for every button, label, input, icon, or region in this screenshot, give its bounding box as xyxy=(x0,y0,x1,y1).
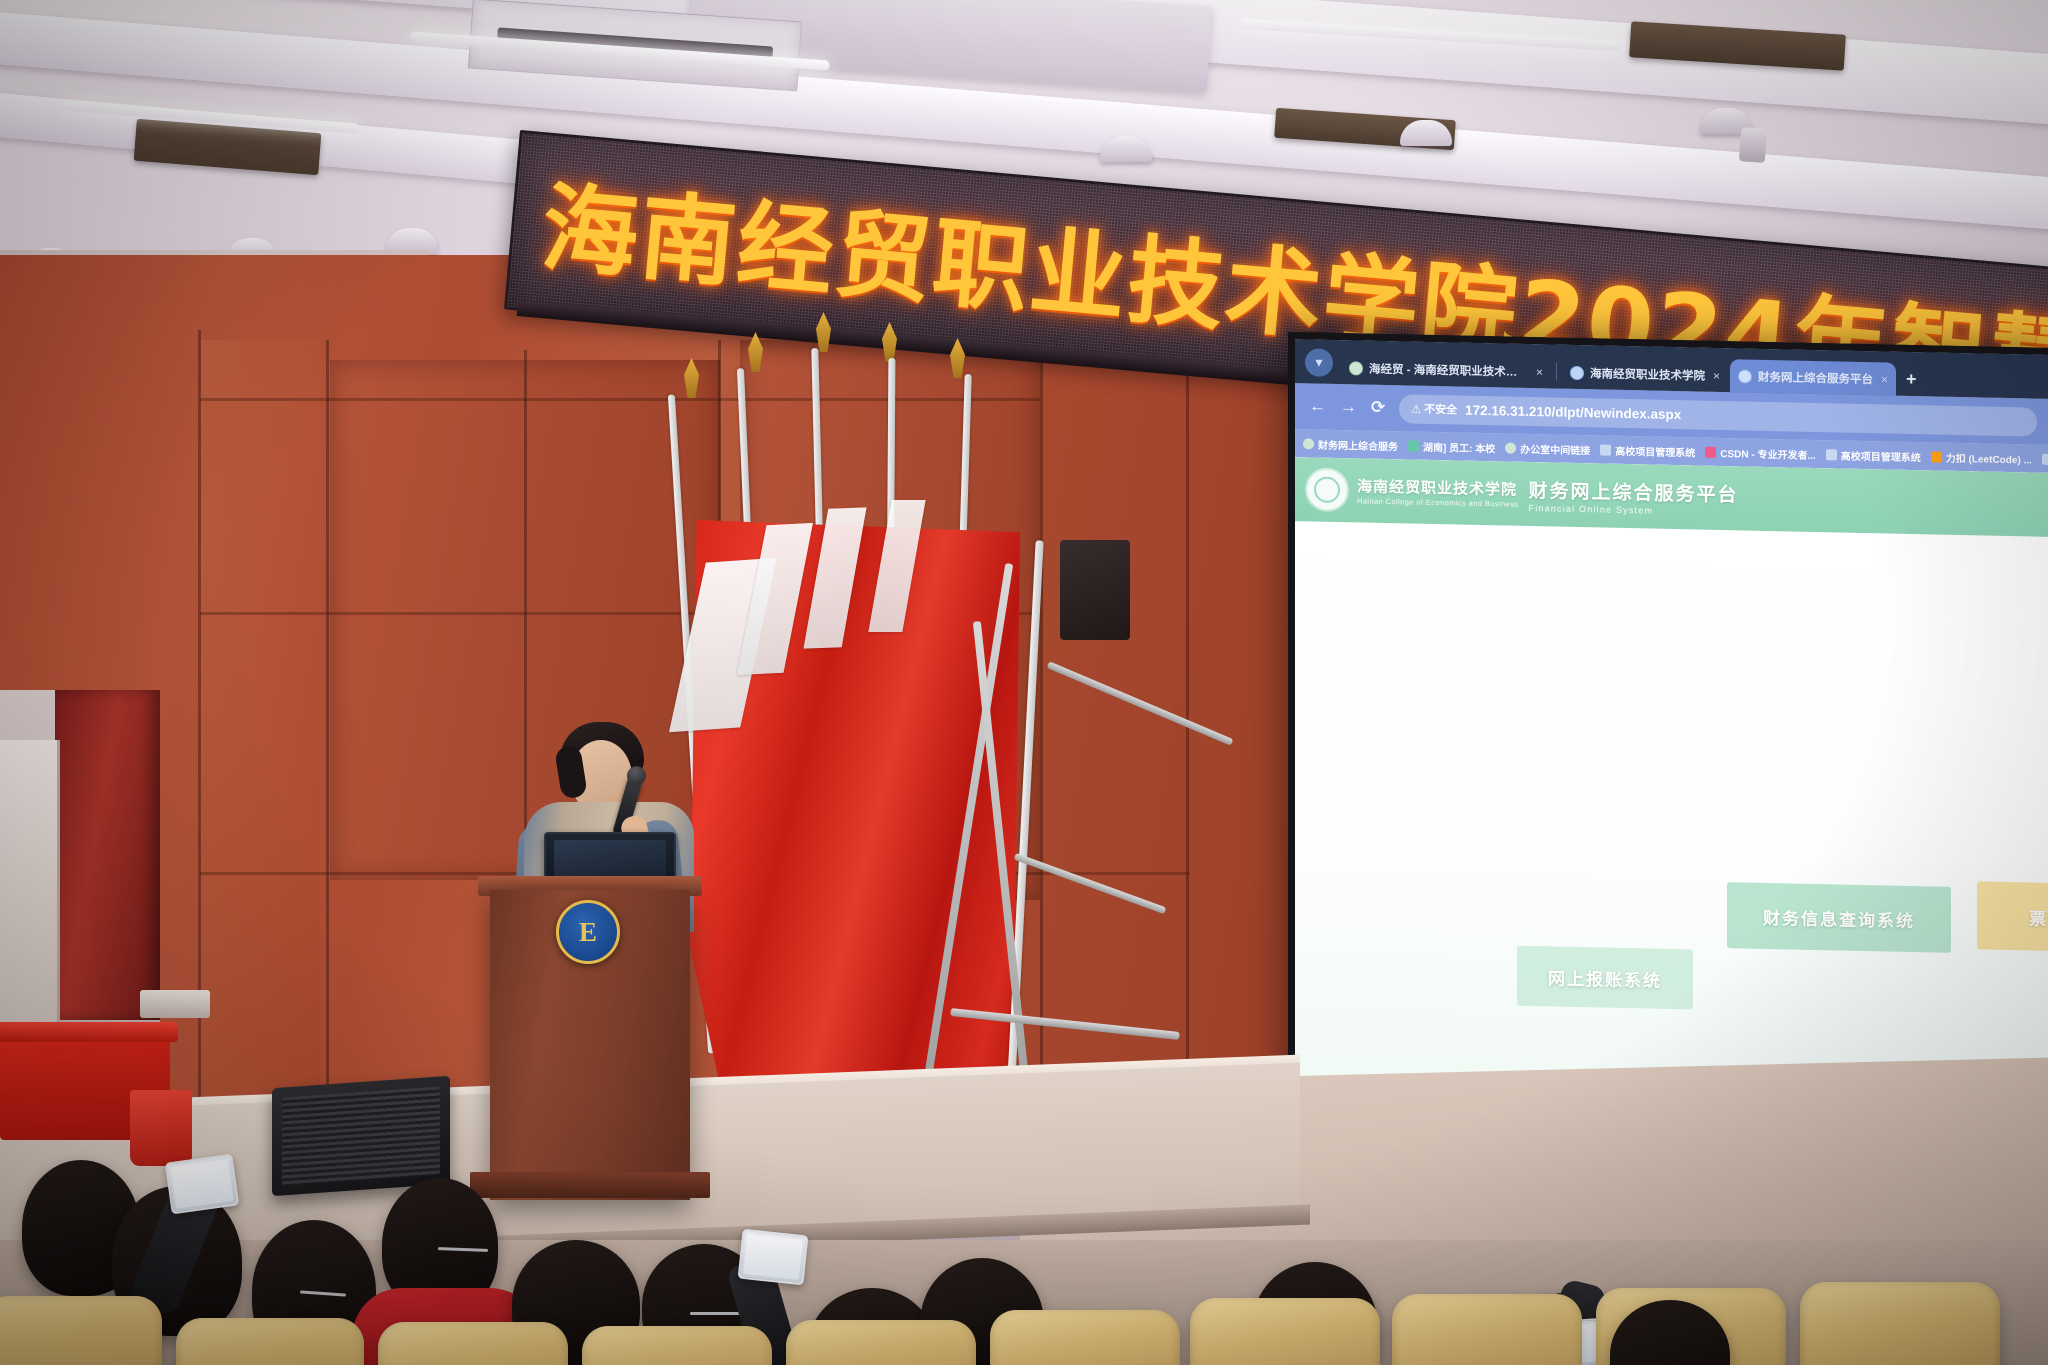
audience-seat xyxy=(1800,1282,2000,1365)
wall-seam xyxy=(326,340,329,1170)
address-bar[interactable]: ⚠ 不安全 172.16.31.210/dlpt/Newindex.aspx xyxy=(1399,394,2037,436)
bookmark-label: 财务网上综合服务 xyxy=(1318,436,1398,453)
service-card-invoice-check[interactable]: 票据查验 xyxy=(1977,881,2048,953)
door-frame xyxy=(0,740,60,1070)
bookmark-favicon-icon xyxy=(1303,438,1314,449)
bookmark-favicon-icon xyxy=(1505,442,1516,453)
bookmark-item[interactable]: 高校项目管理系统 xyxy=(1600,442,1695,459)
smartphone-icon xyxy=(738,1229,809,1286)
bookmark-item[interactable]: CSDN - 专业开发者... xyxy=(1705,444,1816,461)
not-secure-badge[interactable]: ⚠ 不安全 xyxy=(1411,401,1457,418)
conference-hall-photo: 海南经贸职业技术学院2024年智慧财务系 ▼ 海经贸 - 海南经贸职业技术学院 … xyxy=(0,0,2048,1365)
bookmark-label: 力扣 (LeetCode) ... xyxy=(1946,449,2032,466)
tab-favicon-icon xyxy=(1349,361,1363,375)
wall-shelf xyxy=(140,990,210,1018)
tab-close-icon[interactable]: × xyxy=(1713,368,1720,382)
stage-floor-speaker xyxy=(272,1076,450,1196)
bookmark-item[interactable]: 高校项目管理系统 xyxy=(1826,447,1921,464)
warning-icon: ⚠ xyxy=(1411,402,1421,415)
tab-favicon-icon xyxy=(1738,369,1752,383)
browser-tab-3-active[interactable]: 财务网上综合服务平台 × xyxy=(1730,359,1896,395)
audience-seat xyxy=(786,1320,976,1365)
tab-favicon-icon xyxy=(1570,365,1584,379)
url-text: 172.16.31.210/dlpt/Newindex.aspx xyxy=(1465,402,1681,422)
bookmark-favicon-icon xyxy=(1408,440,1419,451)
bookmark-item[interactable]: 湖南] 员工: 本校 xyxy=(1408,438,1495,455)
tab-title: 海南经贸职业技术学院 xyxy=(1590,365,1705,383)
system-name-block: 财务网上综合服务平台 Financial Online System xyxy=(1529,475,1739,516)
bookmark-item[interactable]: 又口一... xyxy=(2042,451,2048,467)
audience-seat xyxy=(176,1318,364,1365)
browser-tab-1[interactable]: 海经贸 - 海南经贸职业技术学院 × xyxy=(1341,351,1551,388)
tab-close-icon[interactable]: × xyxy=(1536,365,1543,379)
speaker-grill xyxy=(282,1086,440,1185)
bookmark-favicon-icon xyxy=(1826,449,1837,460)
red-bucket xyxy=(130,1090,192,1166)
card-label: 财务信息查询系统 xyxy=(1763,903,1915,931)
browser-tab-2[interactable]: 海南经贸职业技术学院 × xyxy=(1562,356,1728,392)
tab-title: 财务网上综合服务平台 xyxy=(1758,368,1873,386)
browser-window: ▼ 海经贸 - 海南经贸职业技术学院 × 海南经贸职业技术学院 × 财务网上综合… xyxy=(1295,339,2048,1171)
bookmark-favicon-icon xyxy=(2042,453,2048,464)
audience-seat xyxy=(1190,1298,1380,1365)
wall-seam xyxy=(1186,330,1189,1170)
bookmark-favicon-icon xyxy=(1931,451,1942,462)
service-card-finance-query[interactable]: 财务信息查询系统 xyxy=(1727,882,1951,953)
profile-avatar-icon[interactable]: ▼ xyxy=(1305,348,1333,377)
podium-base xyxy=(470,1172,710,1198)
crest-inner-ring xyxy=(1314,476,1340,503)
eyeglasses-icon xyxy=(690,1312,742,1315)
projection-screen: ▼ 海经贸 - 海南经贸职业技术学院 × 海南经贸职业技术学院 × 财务网上综合… xyxy=(1288,332,2048,1178)
bookmark-favicon-icon xyxy=(1600,444,1611,455)
track-light xyxy=(1739,127,1767,163)
bookmark-label: 高校项目管理系统 xyxy=(1841,447,1921,464)
audience-seat xyxy=(990,1310,1180,1365)
college-name-block: 海南经贸职业技术学院 Hainan College of Economics a… xyxy=(1357,475,1519,508)
audience-seat xyxy=(0,1296,162,1365)
laptop-screen xyxy=(554,840,666,880)
smartphone-icon xyxy=(165,1154,240,1215)
reload-icon[interactable]: ⟳ xyxy=(1371,398,1385,418)
tab-divider xyxy=(1556,363,1557,381)
bookmark-item[interactable]: 财务网上综合服务 xyxy=(1303,436,1398,453)
college-emblem-icon: E xyxy=(556,900,620,964)
audience-seat xyxy=(378,1322,568,1365)
card-label: 网上报账系统 xyxy=(1548,964,1662,991)
red-curtain xyxy=(55,690,160,1020)
new-tab-button[interactable]: + xyxy=(1906,369,1917,390)
bookmark-label: CSDN - 专业开发者... xyxy=(1720,444,1816,461)
college-crest-icon xyxy=(1307,469,1347,510)
bookmark-item[interactable]: 力扣 (LeetCode) ... xyxy=(1931,449,2032,466)
audience-seat xyxy=(1392,1294,1582,1365)
tab-close-icon[interactable]: × xyxy=(1881,372,1888,386)
system-name-cn: 财务网上综合服务平台 xyxy=(1529,475,1739,506)
audience-seat xyxy=(582,1326,772,1365)
wall-column xyxy=(200,340,320,1160)
bookmark-favicon-icon xyxy=(1705,446,1716,457)
tab-title: 海经贸 - 海南经贸职业技术学院 xyxy=(1369,360,1528,379)
bookmark-label: 高校项目管理系统 xyxy=(1615,442,1695,459)
phone-screen xyxy=(743,1234,803,1280)
red-storage-bin-lid xyxy=(0,1022,178,1042)
not-secure-label: 不安全 xyxy=(1424,401,1457,418)
forward-icon[interactable]: → xyxy=(1340,397,1357,417)
wall-seam xyxy=(198,330,201,1170)
bookmark-label: 湖南] 员工: 本校 xyxy=(1423,438,1495,455)
bookmark-label: 办公室中间链接 xyxy=(1520,440,1590,456)
bookmark-item[interactable]: 办公室中间链接 xyxy=(1505,440,1590,457)
stage-monitor xyxy=(1060,540,1130,640)
phone-screen xyxy=(170,1159,233,1209)
emblem-letter: E xyxy=(579,917,597,948)
service-card-online-reimbursement[interactable]: 网上报账系统 xyxy=(1517,946,1693,1010)
back-icon[interactable]: ← xyxy=(1309,396,1326,416)
card-label: 票据查验 xyxy=(2029,904,2048,931)
